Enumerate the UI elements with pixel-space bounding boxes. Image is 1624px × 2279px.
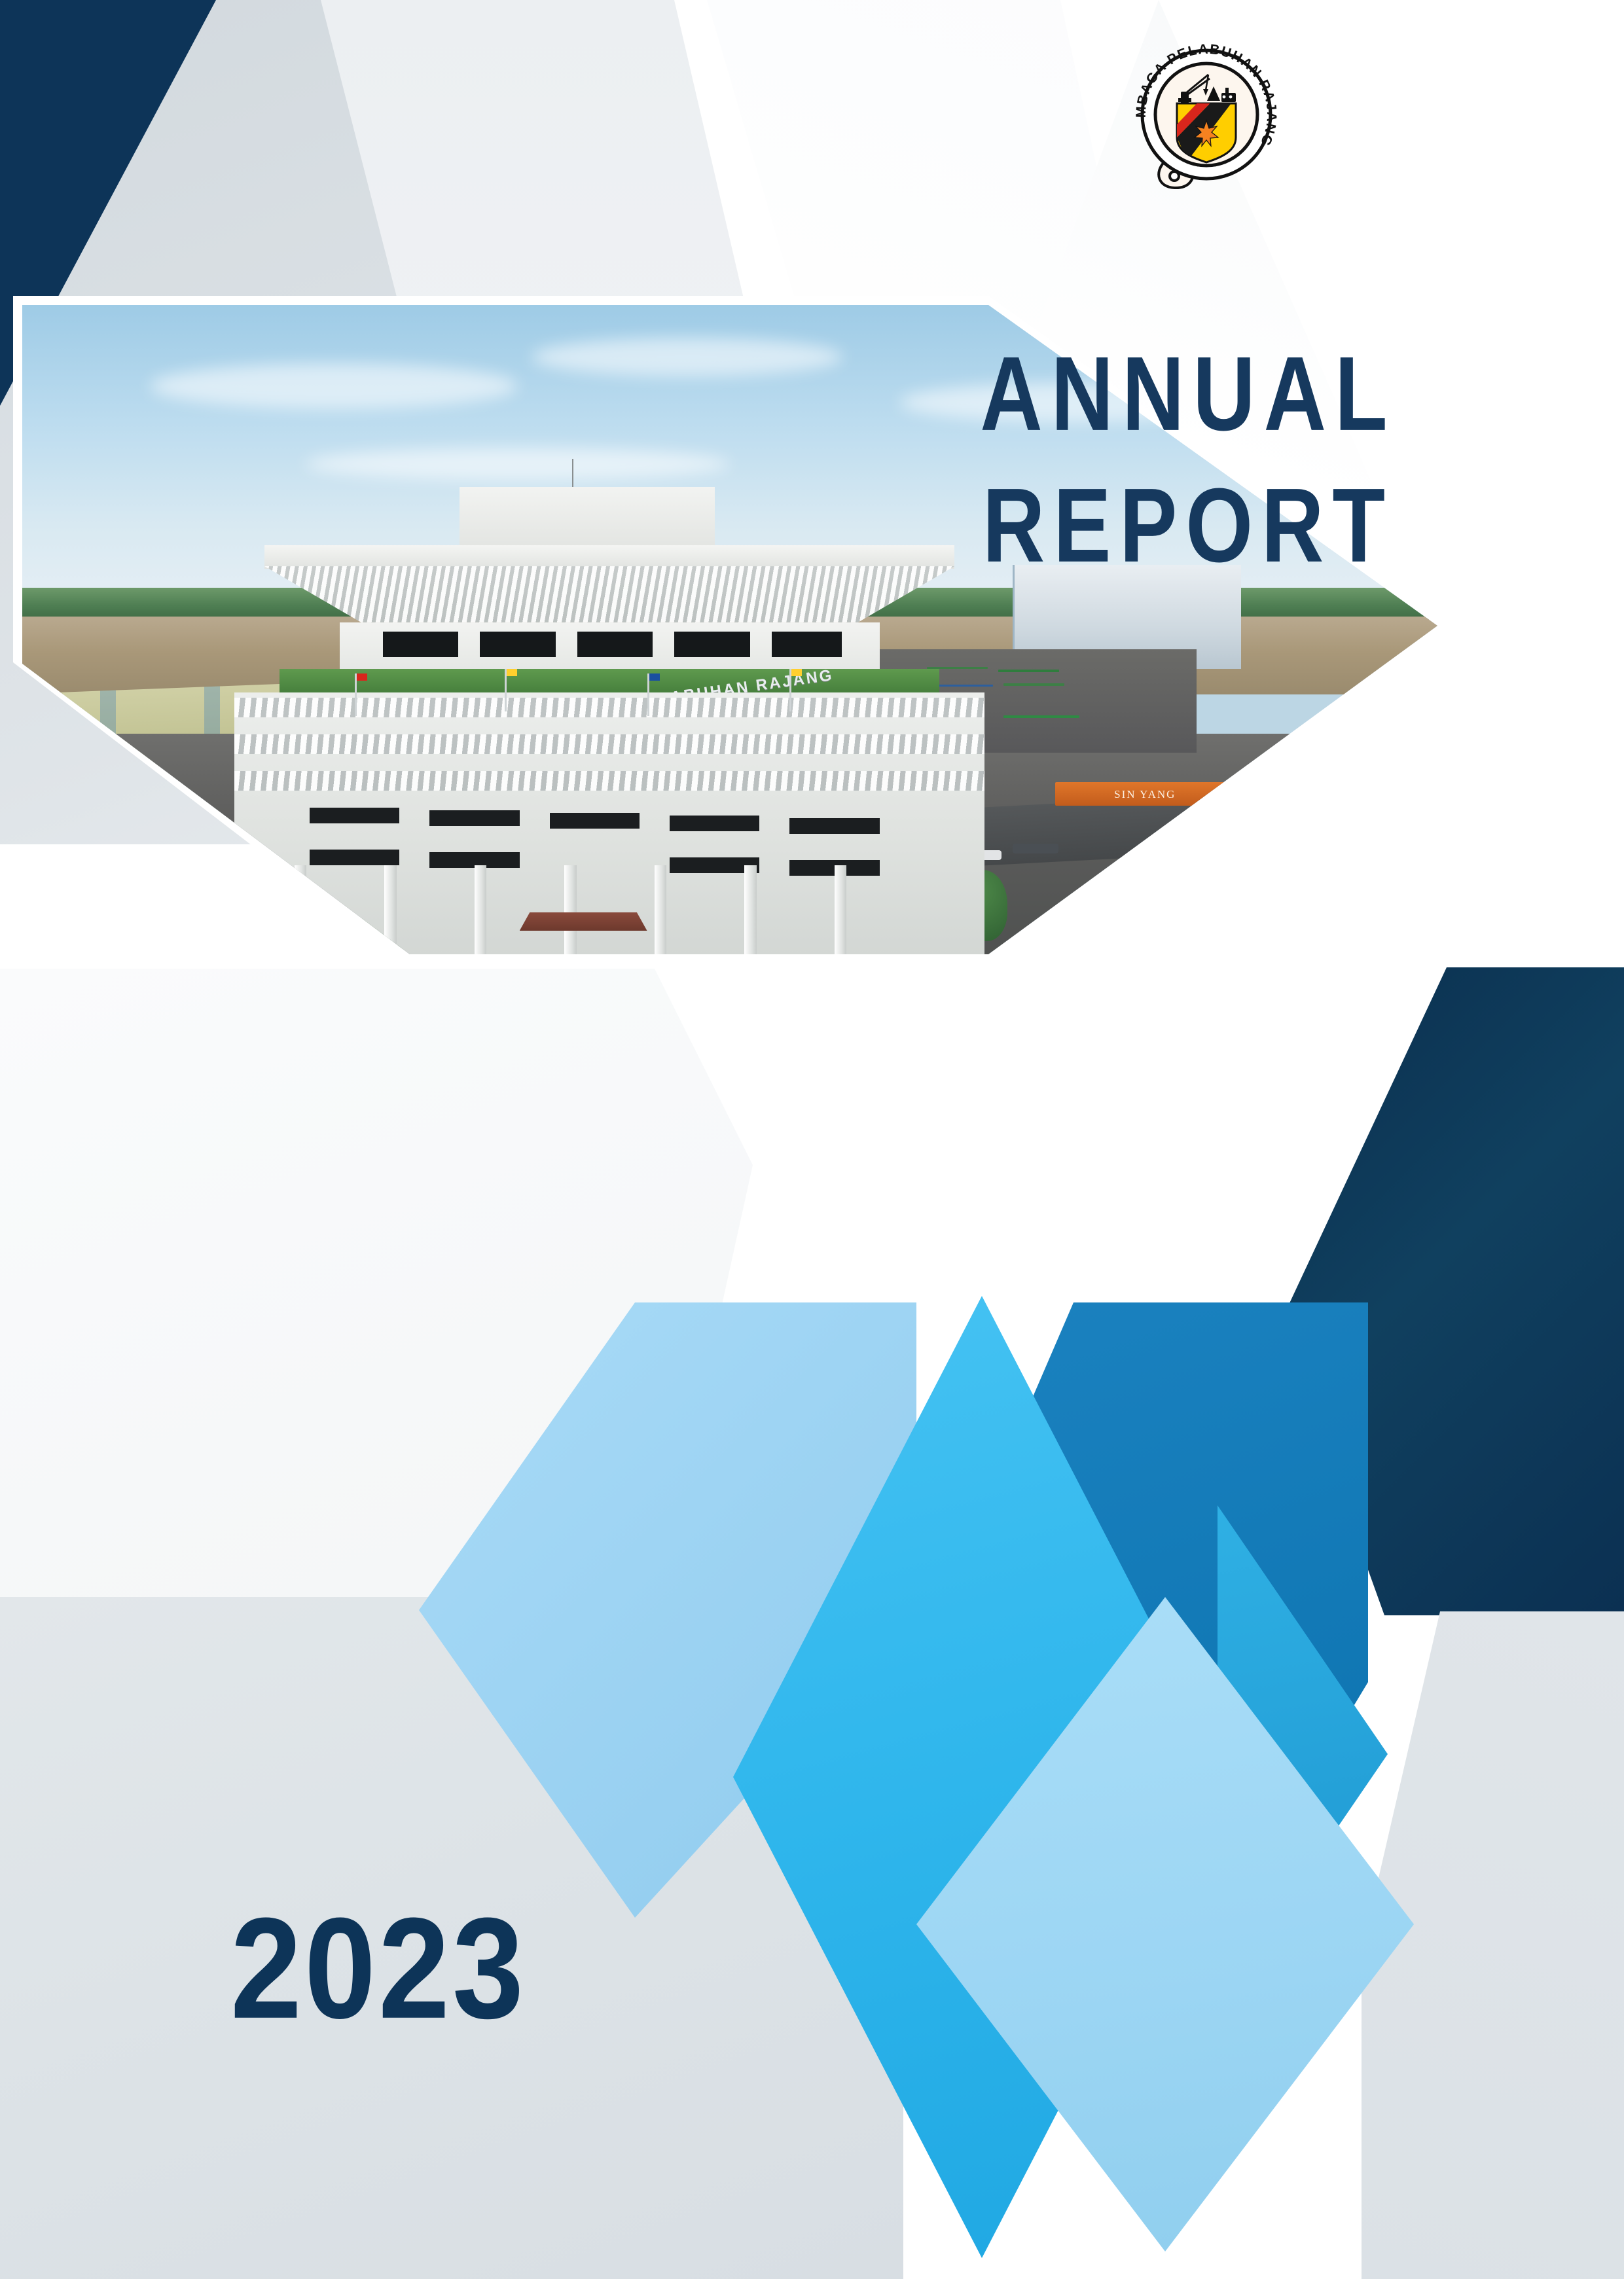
photo-cloud [532,338,843,377]
title-line-report: REPORT [903,446,1473,606]
photo-window [310,808,400,823]
photo-flag [357,673,367,681]
photo-column [564,865,576,954]
photo-facade-louvre-band [234,771,984,791]
photo-cloud [150,363,518,408]
photo-flagpole [789,669,791,711]
photo-window [674,632,750,657]
photo-flag [649,673,660,681]
photo-entrance-canopy [520,912,647,931]
photo-parked-car [1013,844,1058,853]
decorative-grey-panel-bottom-right [1362,1611,1624,2279]
photo-window [789,818,880,834]
cover-title: ANNUAL REPORT [903,314,1473,577]
photo-flagpole [505,669,507,711]
organization-logo: LEMBAGA PELABUHAN RAJANG [1125,33,1288,196]
photo-container [998,670,1059,672]
photo-roof-penthouse [460,487,715,548]
photo-cloud [305,448,730,480]
photo-flag [791,669,802,676]
photo-column [655,865,666,954]
photo-window [383,632,459,657]
photo-louvre-screen [264,566,954,622]
photo-window [310,850,400,865]
photo-column [475,865,486,954]
photo-window [577,632,653,657]
photo-window [670,816,760,831]
photo-inverted-pyramid [264,566,954,622]
photo-roof-slab [264,545,954,569]
photo-window [480,632,556,657]
photo-container [1003,683,1064,686]
photo-container [1003,715,1080,718]
photo-main-block [234,692,984,954]
photo-container-label: SIN YANG [1114,788,1176,801]
photo-headquarters-building: LEMBAGA PELABUHAN RAJANG [234,487,984,954]
photo-column [744,865,756,954]
photo-column [835,865,846,954]
crest-svg: LEMBAGA PELABUHAN RAJANG [1125,33,1288,196]
annual-report-cover-page: SIN YANG [0,0,1624,2279]
photo-flagpole [647,673,649,715]
report-year: 2023 [230,1897,526,2041]
photo-window [550,813,640,829]
photo-facade-louvre-band [234,734,984,754]
photo-facade-louvre-band [234,698,984,717]
photo-flag [507,669,517,676]
photo-window [429,810,520,826]
photo-window [772,632,842,657]
photo-mid-floor [340,622,880,669]
photo-flagpole [355,673,357,715]
photo-roof-mast [572,459,573,487]
photo-column [384,865,396,954]
